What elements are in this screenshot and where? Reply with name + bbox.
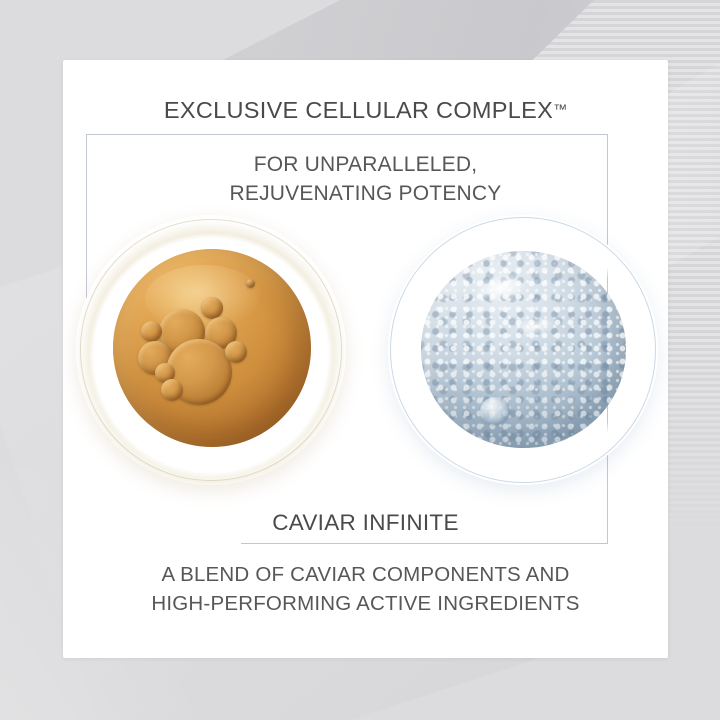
footer-description: A BLEND OF CAVIAR COMPONENTS AND HIGH-PE… [63, 560, 668, 618]
oil-bubble [225, 341, 247, 363]
gel-bottom-shade [421, 357, 626, 448]
frame-line-top [86, 134, 608, 135]
oil-bubble [161, 379, 183, 401]
droplet-row [63, 215, 668, 515]
oil-bubble [246, 279, 255, 288]
footer-line-1: A BLEND OF CAVIAR COMPONENTS AND [161, 563, 569, 586]
amber-oil-droplet [76, 215, 346, 485]
product-infographic-canvas: EXCLUSIVE CELLULAR COMPLEX™ FOR UNPARALL… [0, 0, 720, 720]
subtitle: FOR UNPARALLELED, REJUVENATING POTENCY [63, 150, 668, 208]
trademark-symbol: ™ [553, 101, 567, 117]
product-name: CAVIAR INFINITE [63, 510, 668, 536]
oil-bubble [201, 297, 223, 319]
gel-large-bubble [480, 397, 510, 425]
blue-gel-droplet [388, 215, 658, 485]
oil-bubble [141, 321, 162, 342]
subtitle-line-1: FOR UNPARALLELED, [254, 153, 478, 176]
page-title-text: EXCLUSIVE CELLULAR COMPLEX [164, 97, 553, 123]
subtitle-line-2: REJUVENATING POTENCY [63, 179, 668, 208]
page-title: EXCLUSIVE CELLULAR COMPLEX™ [63, 97, 668, 124]
frame-line-bottom [241, 543, 608, 544]
content-card: EXCLUSIVE CELLULAR COMPLEX™ FOR UNPARALL… [63, 60, 668, 658]
footer-line-2: HIGH-PERFORMING ACTIVE INGREDIENTS [63, 589, 668, 618]
amber-droplet-sphere [113, 249, 311, 447]
gel-droplet-sphere [421, 251, 626, 448]
